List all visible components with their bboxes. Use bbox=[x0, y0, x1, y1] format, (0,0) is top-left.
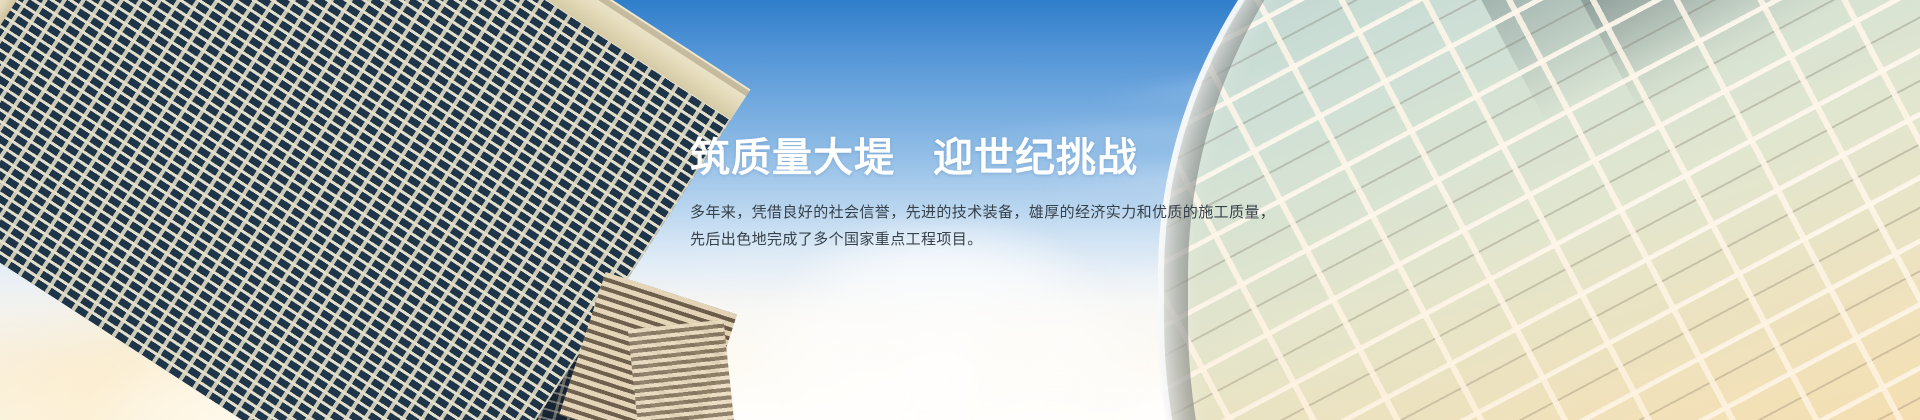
hero-banner: 筑质量大堤迎世纪挑战 多年来，凭借良好的社会信誉，先进的技术装备，雄厚的经济实力… bbox=[0, 0, 1920, 420]
headline-part-2: 迎世纪挑战 bbox=[933, 136, 1138, 180]
headline-part-1: 筑质量大堤 bbox=[690, 136, 895, 180]
banner-subcopy: 多年来，凭借良好的社会信誉，先进的技术装备，雄厚的经济实力和优质的施工质量， 先… bbox=[690, 199, 1330, 253]
subcopy-line-1: 多年来，凭借良好的社会信誉，先进的技术装备，雄厚的经济实力和优质的施工质量， bbox=[690, 199, 1330, 226]
banner-copy-block: 筑质量大堤迎世纪挑战 多年来，凭借良好的社会信誉，先进的技术装备，雄厚的经济实力… bbox=[690, 136, 1330, 253]
subcopy-line-2: 先后出色地完成了多个国家重点工程项目。 bbox=[690, 226, 1330, 253]
banner-headline: 筑质量大堤迎世纪挑战 bbox=[690, 136, 1330, 181]
background-building-beige bbox=[628, 320, 736, 420]
